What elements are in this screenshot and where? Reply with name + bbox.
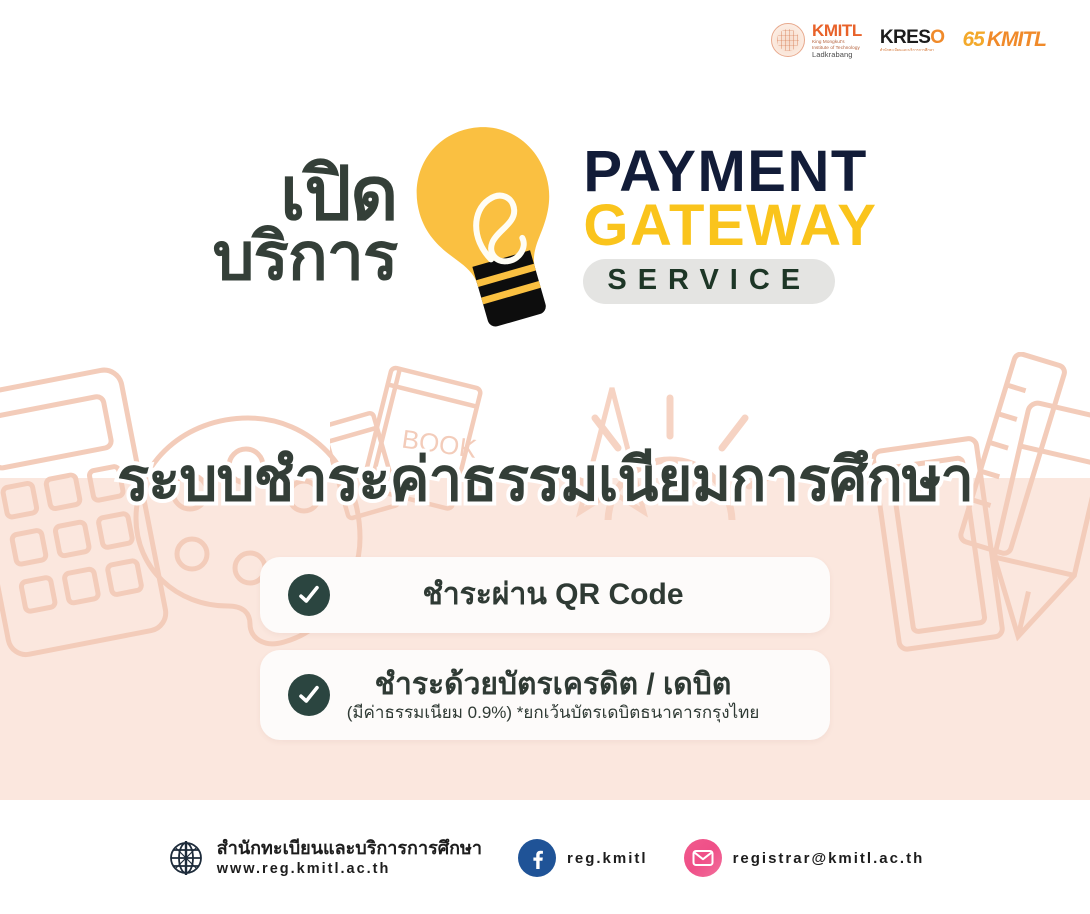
globe-icon <box>166 838 206 878</box>
payment-option-card[interactable]: ชำระด้วยบัตรเครดิต / เดบิต (มีค่าธรรมเนี… <box>260 650 830 740</box>
anniversary-kmitl: KMITL <box>987 28 1046 52</box>
footer-facebook-item[interactable]: reg.kmitl <box>518 839 648 877</box>
payment-option-qr[interactable]: ชำระผ่าน QR Code <box>260 557 830 633</box>
kmitl-wordmark: KMITL King Mongkut's Institute of Techno… <box>812 22 862 59</box>
page-title: ระบบชำระค่าธรรมเนียมการศึกษา <box>0 432 1090 527</box>
kreso-res: RES <box>893 27 930 48</box>
hero-section: เปิด บริการ PAYMENT GATEWAY SERVICE <box>0 118 1090 328</box>
poster-canvas: BOOK <box>0 0 1090 914</box>
kmitl-wordmark-sub1: King Mongkut's <box>812 40 862 45</box>
payment-options-list: ชำระผ่าน QR Code ชำระด้วยบัตรเครดิต / เด… <box>0 557 1090 740</box>
kreso-wordmark: KRESO <box>880 28 945 47</box>
lightbulb-icon <box>403 118 579 328</box>
footer-email-item[interactable]: registrar@kmitl.ac.th <box>684 839 925 877</box>
hero-payment-word: PAYMENT <box>583 143 877 201</box>
footer-facebook-label: reg.kmitl <box>567 850 648 867</box>
kmitl-seal-icon <box>771 23 805 57</box>
hero-thai-text: เปิด บริการ <box>213 158 398 288</box>
payment-option-card-title: ชำระด้วยบัตรเครดิต / เดบิต <box>338 668 768 702</box>
kmitl-wordmark-city: Ladkrabang <box>812 51 862 59</box>
payment-option-qr-title: ชำระผ่าน QR Code <box>338 578 768 612</box>
anniversary-number: 65 <box>962 28 983 52</box>
footer-website-url: www.reg.kmitl.ac.th <box>217 861 391 877</box>
envelope-icon <box>684 839 722 877</box>
kmitl-wordmark-main: KMITL <box>812 22 862 39</box>
footer-website-item[interactable]: สำนักทะเบียนและบริการการศึกษา www.reg.km… <box>166 838 482 879</box>
footer-website-text: สำนักทะเบียนและบริการการศึกษา www.reg.km… <box>217 838 482 879</box>
footer-office-name: สำนักทะเบียนและบริการการศึกษา <box>217 838 482 858</box>
kreso-o: O <box>930 27 944 48</box>
hero-english-text: PAYMENT GATEWAY SERVICE <box>583 143 877 304</box>
facebook-icon <box>518 839 556 877</box>
partner-logo-strip: KMITL King Mongkut's Institute of Techno… <box>771 22 1046 59</box>
payment-option-card-subtitle: (มีค่าธรรมเนียม 0.9%) *ยกเว้นบัตรเดบิตธน… <box>338 703 768 723</box>
payment-option-card-body: ชำระด้วยบัตรเครดิต / เดบิต (มีค่าธรรมเนี… <box>338 668 802 722</box>
hero-gateway-word: GATEWAY <box>583 197 877 255</box>
footer-email-label: registrar@kmitl.ac.th <box>733 850 925 867</box>
check-circle-icon <box>288 574 330 616</box>
kreso-sub: สำนักทะเบียนและบริการการศึกษา <box>880 49 945 53</box>
hero-service-pill: SERVICE <box>583 259 835 304</box>
logo-65th-anniversary: 65 KMITL <box>962 28 1046 52</box>
logo-kreso: KRESO สำนักทะเบียนและบริการการศึกษา <box>880 28 945 53</box>
hero-thai-line-2: บริการ <box>213 225 398 288</box>
check-circle-icon <box>288 674 330 716</box>
payment-option-qr-body: ชำระผ่าน QR Code <box>338 578 802 612</box>
footer-contact-bar: สำนักทะเบียนและบริการการศึกษา www.reg.km… <box>0 838 1090 879</box>
kreso-k: K <box>880 27 893 48</box>
page-title-text: ระบบชำระค่าธรรมเนียมการศึกษา <box>117 446 973 513</box>
hero-service-word: SERVICE <box>607 264 811 296</box>
logo-kmitl: KMITL King Mongkut's Institute of Techno… <box>771 22 862 59</box>
